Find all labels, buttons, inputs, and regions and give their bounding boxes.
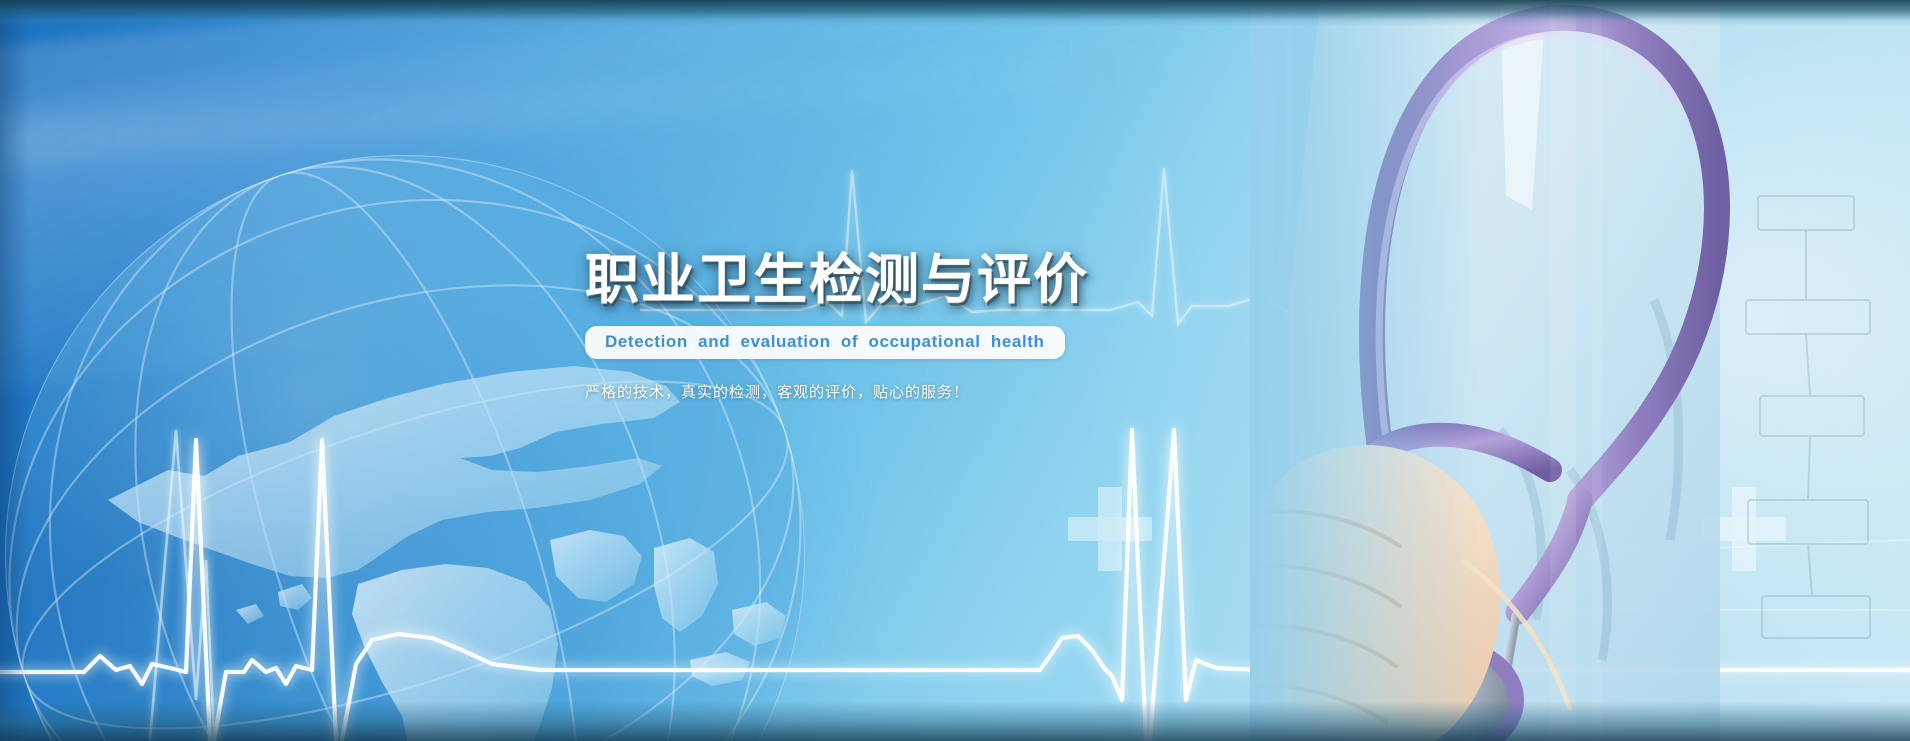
banner-subtitle-en: Detection and evaluation of occupational… <box>605 332 1045 351</box>
vignette-left <box>0 0 30 741</box>
medical-cross-icon <box>1068 487 1152 571</box>
occupational-health-banner: 职业卫生检测与评价 Detection and evaluation of oc… <box>0 0 1910 741</box>
banner-title: 职业卫生检测与评价 <box>585 252 1105 309</box>
vignette-bottom <box>0 701 1910 741</box>
flowchart-ghost <box>1746 196 1870 638</box>
cross-horizontal-bar <box>1068 517 1152 541</box>
banner-text-block: 职业卫生检测与评价 Detection and evaluation of oc… <box>585 252 1105 417</box>
subtitle-pill: Detection and evaluation of occupational… <box>585 326 1065 359</box>
banner-tagline: 严格的技术，真实的检测，客观的评价，贴心的服务！ <box>585 381 1105 402</box>
vignette-top <box>0 0 1910 26</box>
doctor-photo <box>1250 0 1910 741</box>
